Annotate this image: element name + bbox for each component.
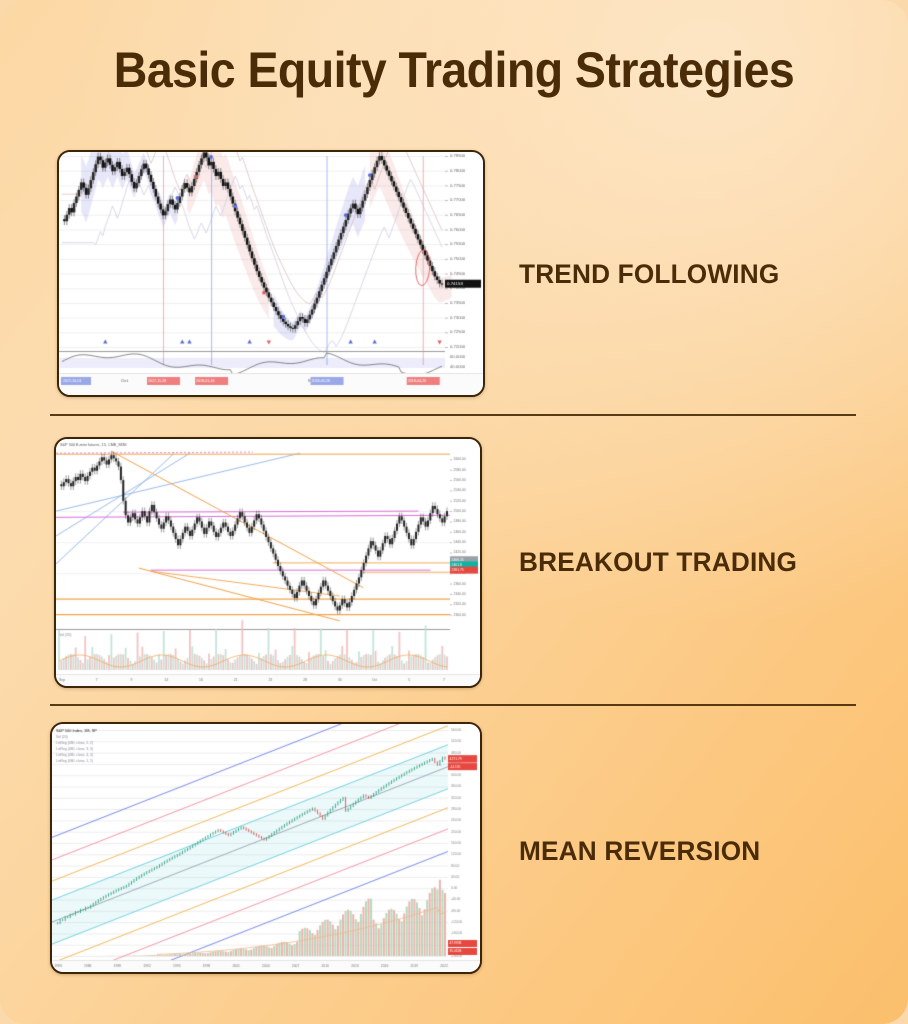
- page-title: Basic Equity Trading Strategies: [32, 41, 876, 99]
- mean-reversion-chart-canvas: [52, 724, 480, 972]
- breakout-trading-chart-canvas: [56, 439, 480, 686]
- chart-card-trend-following[interactable]: [57, 150, 485, 397]
- chart-card-breakout-trading[interactable]: [54, 437, 482, 688]
- section-divider-1: [50, 414, 856, 416]
- strategy-label-breakout-trading: BREAKOUT TRADING: [519, 547, 797, 578]
- chart-card-mean-reversion[interactable]: [50, 722, 482, 974]
- section-divider-2: [50, 704, 856, 706]
- trend-following-chart-canvas: [59, 152, 483, 395]
- poster-root: Basic Equity Trading Strategies TREND FO…: [0, 0, 908, 1024]
- strategy-label-trend-following: TREND FOLLOWING: [519, 259, 779, 290]
- strategy-label-mean-reversion: MEAN REVERSION: [519, 836, 760, 867]
